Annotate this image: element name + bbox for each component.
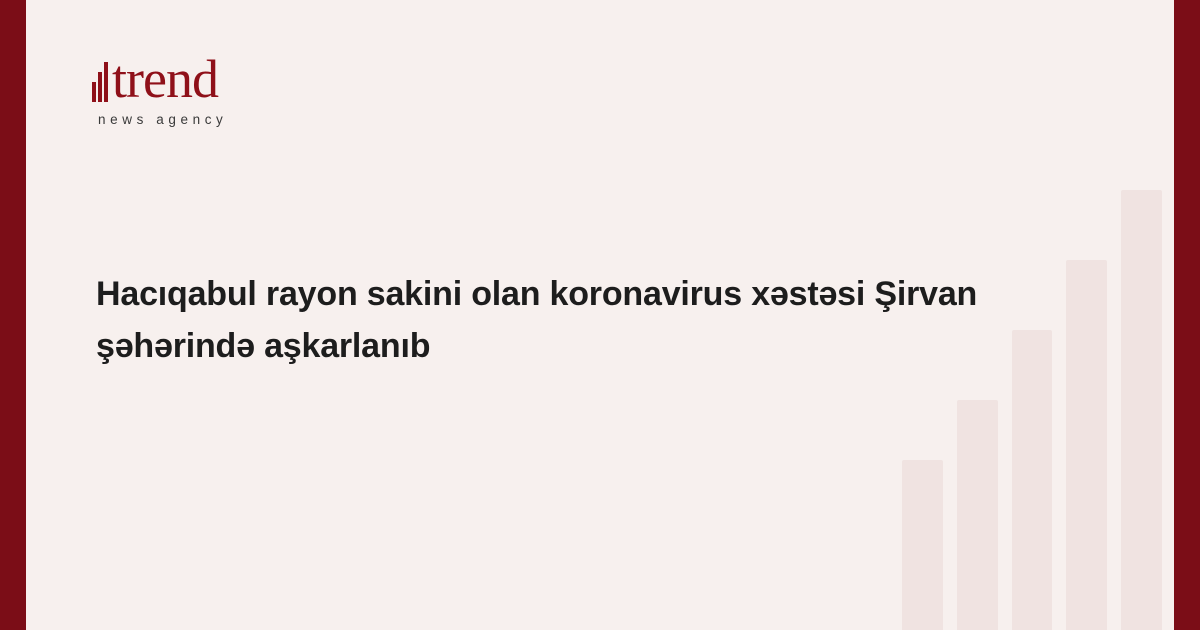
bars-icon xyxy=(92,56,108,102)
page-title: Hacıqabul rayon sakini olan koronavirus … xyxy=(96,268,1096,372)
right-accent-bar xyxy=(1174,0,1200,630)
logo-row: trend xyxy=(92,44,292,106)
watermark-bar xyxy=(1012,330,1053,630)
logo-tagline: news agency xyxy=(98,112,292,127)
bar-chart-watermark xyxy=(902,170,1162,630)
news-share-card: trend news agency Hacıqabul rayon sakini… xyxy=(0,0,1200,630)
watermark-bar xyxy=(1121,190,1162,630)
trend-logo[interactable]: trend news agency xyxy=(92,44,292,127)
watermark-bar xyxy=(902,460,943,630)
watermark-bar xyxy=(957,400,998,630)
left-accent-bar xyxy=(0,0,26,630)
logo-wordmark: trend xyxy=(112,52,218,106)
